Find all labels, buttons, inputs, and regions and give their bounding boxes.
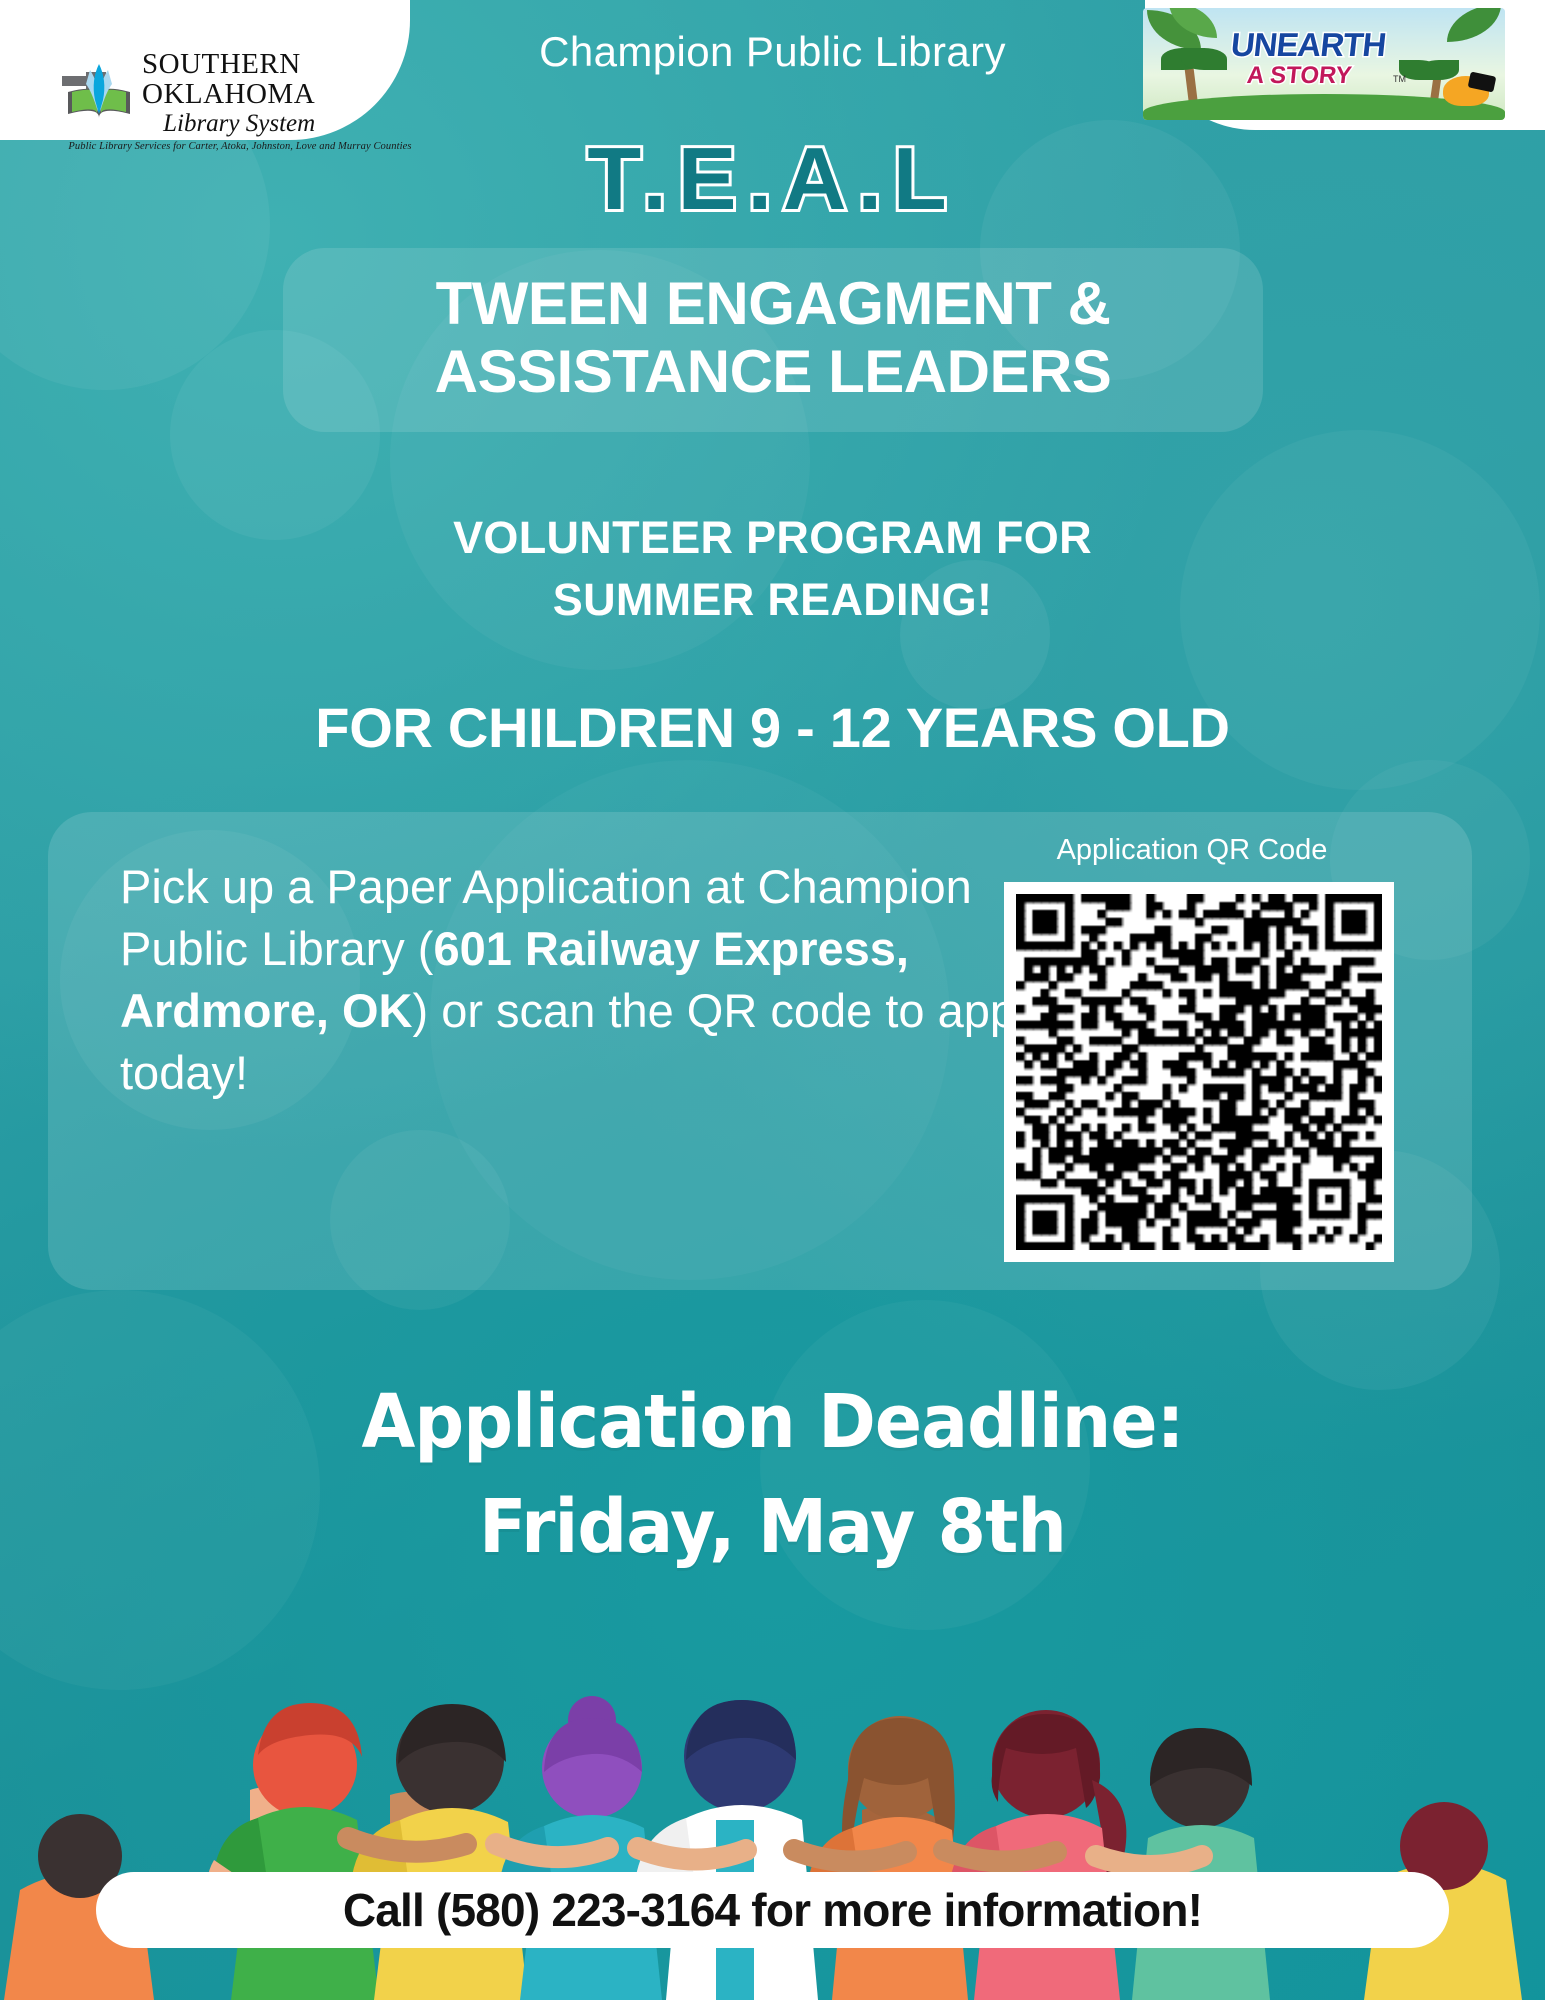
qr-code-label: Application QR Code bbox=[982, 834, 1402, 867]
sols-line3: Library System bbox=[142, 111, 315, 136]
program-logo-line2: A STORY bbox=[1246, 62, 1353, 90]
sols-line2: OKLAHOMA bbox=[142, 80, 315, 109]
sols-logo: SOUTHERN OKLAHOMA Library System Public … bbox=[60, 50, 420, 152]
headline-line-2: ASSISTANCE LEADERS bbox=[313, 338, 1233, 406]
deadline-date: Friday, May 8th bbox=[46, 1475, 1498, 1580]
jungle-dinosaur-icon: UNEARTH A STORY TM bbox=[1143, 8, 1505, 120]
program-subtitle: VOLUNTEER PROGRAM FOR SUMMER READING! bbox=[0, 507, 1545, 631]
qr-canvas[interactable] bbox=[1016, 894, 1382, 1250]
sols-line1: SOUTHERN bbox=[142, 50, 315, 79]
qr-code[interactable] bbox=[1004, 882, 1394, 1262]
contact-phone-text: Call (580) 223-3164 for more information… bbox=[343, 1883, 1202, 1937]
open-book-icon bbox=[60, 62, 138, 124]
program-logo-trademark: TM bbox=[1393, 74, 1406, 84]
program-subtitle-line-2: SUMMER READING! bbox=[0, 569, 1545, 631]
program-logo-line1: UNEARTH bbox=[1229, 26, 1387, 64]
age-range-text: FOR CHILDREN 9 - 12 YEARS OLD bbox=[0, 695, 1545, 760]
application-info-card: Pick up a Paper Application at Champion … bbox=[48, 812, 1472, 1290]
headline-line-1: TWEEN ENGAGMENT & bbox=[313, 270, 1233, 338]
application-deadline: Application Deadline: Friday, May 8th bbox=[46, 1370, 1498, 1580]
program-subtitle-line-1: VOLUNTEER PROGRAM FOR bbox=[0, 507, 1545, 569]
children-illustration bbox=[0, 1660, 1545, 2000]
application-instructions: Pick up a Paper Application at Champion … bbox=[120, 856, 1070, 1104]
deadline-label: Application Deadline: bbox=[46, 1370, 1498, 1475]
contact-banner[interactable]: Call (580) 223-3164 for more information… bbox=[96, 1872, 1449, 1948]
sols-fine-print: Public Library Services for Carter, Atok… bbox=[60, 141, 420, 152]
headline-panel: TWEEN ENGAGMENT & ASSISTANCE LEADERS bbox=[283, 248, 1263, 432]
